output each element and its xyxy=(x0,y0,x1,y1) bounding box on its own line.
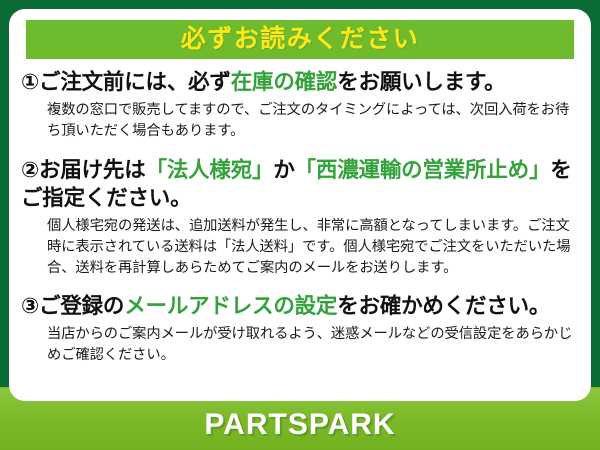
item-marker: ② xyxy=(21,158,39,182)
item-head-highlight: 在庫の確認 xyxy=(231,70,338,94)
list-item: ②お届け先は「法人様宛」か「西濃運輸の営業所止め」をご指定ください。 個人様宅宛… xyxy=(9,157,591,278)
item-marker: ③ xyxy=(21,294,39,318)
item-head-part: をお確かめください。 xyxy=(337,294,550,318)
item-head-highlight: メールアドレスの設定 xyxy=(124,294,337,318)
title-banner: 必ずお読みください xyxy=(26,20,574,59)
brand-logo: PARTSPARK xyxy=(0,408,600,442)
notice-list: ①ご注文前には、必ず在庫の確認をお願いします。 複数の窓口で販売してますので、ご… xyxy=(9,67,591,366)
item-head-highlight: 「西濃運輸の営業所止め」 xyxy=(295,158,551,182)
item-head-part: ご注文前には、必ず xyxy=(39,70,231,94)
item-heading: ①ご注文前には、必ず在庫の確認をお願いします。 xyxy=(21,69,581,97)
item-head-part: か xyxy=(273,158,294,182)
list-item: ③ご登録のメールアドレスの設定をお確かめください。 当店からのご案内メールが受け… xyxy=(9,293,591,365)
item-marker: ① xyxy=(21,70,39,94)
list-item: ①ご注文前には、必ず在庫の確認をお願いします。 複数の窓口で販売してますので、ご… xyxy=(9,69,591,141)
content-card: 必ずお読みください ①ご注文前には、必ず在庫の確認をお願いします。 複数の窓口で… xyxy=(9,9,591,401)
item-head-part: をお願いします。 xyxy=(337,70,505,94)
item-body: 複数の窓口で販売してますので、ご注文のタイミングによっては、次回入荷をお待ち頂い… xyxy=(47,100,581,141)
item-body: 当店からのご案内メールが受け取れるよう、迷惑メールなどの受信設定をあらかじめご確… xyxy=(47,324,581,365)
item-head-highlight: 「法人様宛」 xyxy=(146,158,274,182)
page-title: 必ずお読みください xyxy=(181,27,420,52)
item-heading: ②お届け先は「法人様宛」か「西濃運輸の営業所止め」をご指定ください。 xyxy=(21,157,581,213)
item-body: 個人様宅宛の発送は、追加送料が発生し、非常に高額となってしまいます。ご注文時に表… xyxy=(47,216,581,278)
item-head-part: ご登録の xyxy=(39,294,124,318)
notice-banner: 必ずお読みください ①ご注文前には、必ず在庫の確認をお願いします。 複数の窓口で… xyxy=(0,0,600,450)
item-head-part: お届け先は xyxy=(39,158,146,182)
item-heading: ③ご登録のメールアドレスの設定をお確かめください。 xyxy=(21,293,581,321)
